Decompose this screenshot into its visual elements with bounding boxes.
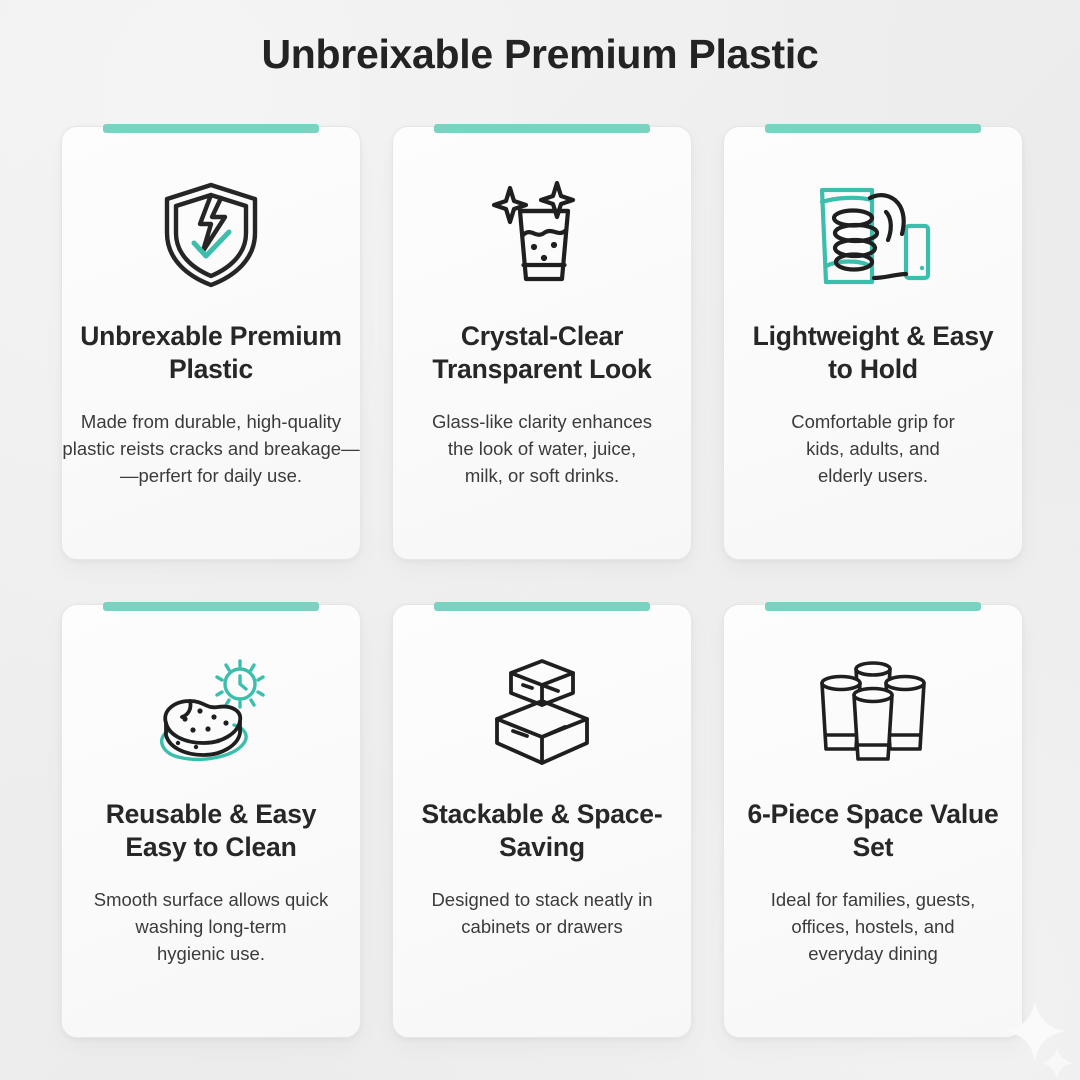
stacked-boxes-icon xyxy=(483,657,601,769)
sparkle-icon xyxy=(1040,1046,1074,1080)
page-title: Unbreixable Premium Plastic xyxy=(0,30,1080,79)
card-heading: 6-Piece Space Value Set xyxy=(739,798,1007,864)
card-heading: Unbrexable Premium Plastic xyxy=(77,320,345,386)
accent-bar xyxy=(434,124,650,133)
card-heading: Crystal-Clear Transparent Look xyxy=(408,320,676,386)
feature-card-stackable[interactable]: Stackable & Space-Saving Designed to sta… xyxy=(392,604,692,1038)
card-heading: Stackable & Space-Saving xyxy=(408,798,676,864)
accent-bar xyxy=(103,602,319,611)
card-body: Designed to stack neatly in cabinets or … xyxy=(377,886,707,940)
feature-card-unbreakable[interactable]: Unbrexable Premium Plastic Made from dur… xyxy=(61,126,361,560)
card-body: Smooth surface allows quick washing long… xyxy=(46,886,376,968)
shield-lightning-check-icon xyxy=(159,179,263,291)
card-body: Ideal for families, guests, offices, hos… xyxy=(739,886,1007,968)
card-heading: Lightweight & Easy to Hold xyxy=(739,320,1007,386)
feature-card-reusable[interactable]: Reusable & Easy Easy to Clean Smooth sur… xyxy=(61,604,361,1038)
sponge-clock-icon xyxy=(148,657,274,769)
six-glasses-icon xyxy=(810,657,936,769)
feature-card-lightweight[interactable]: Lightweight & Easy to Hold Comfortable g… xyxy=(723,126,1023,560)
feature-card-six-piece[interactable]: 6-Piece Space Value Set Ideal for famili… xyxy=(723,604,1023,1038)
sparkling-glass-of-water-icon xyxy=(490,179,594,291)
accent-bar xyxy=(103,124,319,133)
feature-card-grid: Unbrexable Premium Plastic Made from dur… xyxy=(61,126,1023,1038)
accent-bar xyxy=(765,124,981,133)
accent-bar xyxy=(434,602,650,611)
card-body: Comfortable grip for kids, adults, and e… xyxy=(739,408,1007,490)
accent-bar xyxy=(765,602,981,611)
feature-card-crystal-clear[interactable]: Crystal-Clear Transparent Look Glass-lik… xyxy=(392,126,692,560)
card-body: Made from durable, high-quality plastic … xyxy=(46,408,376,490)
hand-holding-glass-icon xyxy=(812,179,934,291)
card-heading: Reusable & Easy Easy to Clean xyxy=(77,798,345,864)
card-body: Glass-like clarity enhances the look of … xyxy=(408,408,676,490)
